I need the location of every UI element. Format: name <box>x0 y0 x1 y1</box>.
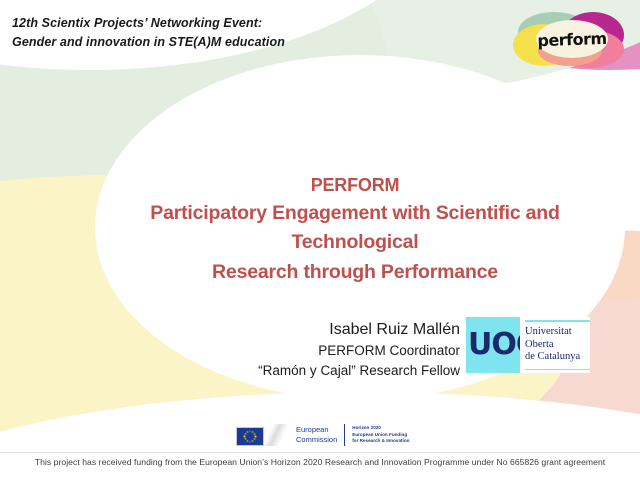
eu-flag <box>236 427 264 446</box>
european-commission-name-line2: Commission <box>296 435 337 445</box>
horizon-2020-block: Horizon 2020 European Union Funding for … <box>352 425 409 445</box>
title-line-3: Research through Performance <box>95 258 615 287</box>
horizon-2020-line2: European Union Funding <box>352 432 409 439</box>
funding-statement: This project has received funding from t… <box>0 457 640 467</box>
presenter-block: Isabel Ruiz Mallén PERFORM Coordinator “… <box>180 318 460 380</box>
eu-flag-icon <box>232 422 294 448</box>
uoc-logo-name-line3: de Catalunya <box>525 351 590 364</box>
european-commission-logo: European Commission Horizon 2020 Europea… <box>232 421 409 449</box>
event-header-line1: 12th Scientix Projects’ Networking Event… <box>12 14 432 33</box>
presenter-role: PERFORM Coordinator <box>180 341 460 361</box>
uoc-logo-mark-text: UOC <box>468 330 520 360</box>
uoc-logo-mark: UOC <box>466 317 520 373</box>
eu-flag-stars <box>245 431 256 442</box>
event-header: 12th Scientix Projects’ Networking Event… <box>12 14 432 52</box>
horizon-2020-line3: for Research & Innovation <box>352 438 409 445</box>
footer-divider <box>0 452 640 453</box>
title-line-project-name: PERFORM <box>95 172 615 199</box>
uoc-logo: UOC Universitat Oberta de Catalunya <box>466 317 590 373</box>
horizon-2020-line1: Horizon 2020 <box>352 425 409 432</box>
uoc-logo-name: Universitat Oberta de Catalunya <box>520 317 590 373</box>
uoc-logo-rule-top <box>525 320 590 322</box>
perform-logo: perform <box>512 10 630 72</box>
presenter-name: Isabel Ruiz Mallén <box>180 318 460 341</box>
presentation-slide: 12th Scientix Projects’ Networking Event… <box>0 0 640 480</box>
presenter-fellowship: “Ramón y Cajal” Research Fellow <box>180 361 460 381</box>
title-line-2: Participatory Engagement with Scientific… <box>95 199 615 258</box>
slide-title: PERFORM Participatory Engagement with Sc… <box>95 172 615 287</box>
event-header-line2: Gender and innovation in STE(A)M educati… <box>12 33 432 52</box>
european-commission-name-line1: European <box>296 425 337 435</box>
uoc-logo-name-line1: Universitat <box>525 326 590 339</box>
perform-logo-wordmark: perform <box>535 19 608 59</box>
european-commission-divider <box>344 424 345 446</box>
european-commission-name: European Commission <box>296 425 337 445</box>
uoc-logo-name-line2: Oberta <box>525 339 590 352</box>
uoc-logo-rule-bottom <box>525 369 590 371</box>
